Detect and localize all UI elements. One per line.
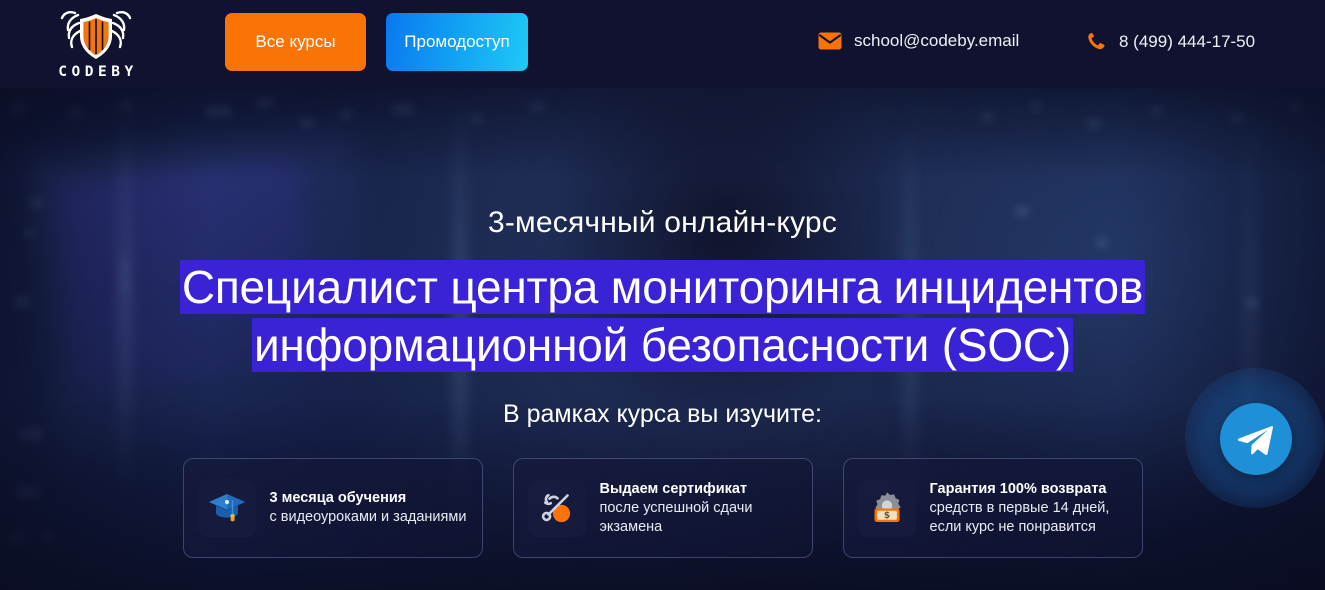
- headline-line-2: информационной безопасности (SOC): [0, 316, 1325, 374]
- promo-access-button[interactable]: Промодоступ: [386, 13, 528, 71]
- codeby-spider-shield-icon: [58, 9, 134, 63]
- card-title: 3 месяца обучения: [270, 489, 468, 508]
- feature-card-certificate: Выдаем сертификат после успешной сдачи э…: [513, 458, 813, 558]
- card-title: Выдаем сертификат: [600, 480, 798, 499]
- hero-section: 3-месячный онлайн-курс Специалист центра…: [0, 88, 1325, 590]
- card-desc: с видеоуроками и заданиями: [270, 508, 468, 527]
- money-back-icon: $: [867, 489, 907, 527]
- logo[interactable]: CODEBY: [48, 6, 144, 82]
- phone-text[interactable]: 8 (499) 444-17-50: [1119, 32, 1255, 52]
- telegram-button[interactable]: [1220, 403, 1292, 475]
- card-icon-tile: $: [858, 479, 916, 537]
- hero-headline: Специалист центра мониторинга инцидентов…: [0, 258, 1325, 374]
- feature-card-duration: 3 месяца обучения с видеоуроками и задан…: [183, 458, 483, 558]
- landing-page: CODEBY Все курсы Промодоступ school@code…: [0, 0, 1325, 590]
- card-text: Выдаем сертификат после успешной сдачи э…: [600, 480, 798, 537]
- card-desc: после успешной сдачи экзамена: [600, 499, 798, 537]
- feature-cards: 3 месяца обучения с видеоуроками и задан…: [0, 458, 1325, 558]
- graduation-cap-icon: [207, 490, 247, 526]
- all-courses-button[interactable]: Все курсы: [225, 13, 366, 71]
- header-email[interactable]: school@codeby.email: [818, 31, 1019, 51]
- svg-text:$: $: [883, 511, 889, 521]
- certificate-medal-icon: [537, 489, 577, 527]
- headline-line-1: Специалист центра мониторинга инцидентов: [0, 258, 1325, 316]
- hero-content: 3-месячный онлайн-курс Специалист центра…: [0, 206, 1325, 429]
- site-header: CODEBY Все курсы Промодоступ school@code…: [0, 0, 1325, 88]
- card-title: Гарантия 100% возврата: [930, 480, 1128, 499]
- card-desc: средств в первые 14 дней, если курс не п…: [930, 499, 1128, 537]
- phone-icon: [1086, 31, 1107, 52]
- card-icon-tile: [528, 479, 586, 537]
- card-text: 3 месяца обучения с видеоуроками и задан…: [270, 489, 468, 527]
- hero-subhead: В рамках курса вы изучите:: [0, 400, 1325, 429]
- headline-line-2-text: информационной безопасности (SOC): [252, 318, 1073, 372]
- telegram-paper-plane-icon: [1236, 423, 1274, 457]
- header-phone[interactable]: 8 (499) 444-17-50: [1086, 31, 1255, 52]
- hero-eyebrow: 3-месячный онлайн-курс: [0, 206, 1325, 240]
- email-text[interactable]: school@codeby.email: [854, 31, 1019, 51]
- card-icon-tile: [198, 479, 256, 537]
- headline-line-1-text: Специалист центра мониторинга инцидентов: [180, 260, 1145, 314]
- card-text: Гарантия 100% возврата средств в первые …: [930, 480, 1128, 537]
- logo-wordmark: CODEBY: [54, 65, 137, 80]
- envelope-icon: [818, 32, 842, 50]
- telegram-float-widget[interactable]: [1185, 368, 1325, 508]
- feature-card-guarantee: $ Гарантия 100% возврата средств в первы…: [843, 458, 1143, 558]
